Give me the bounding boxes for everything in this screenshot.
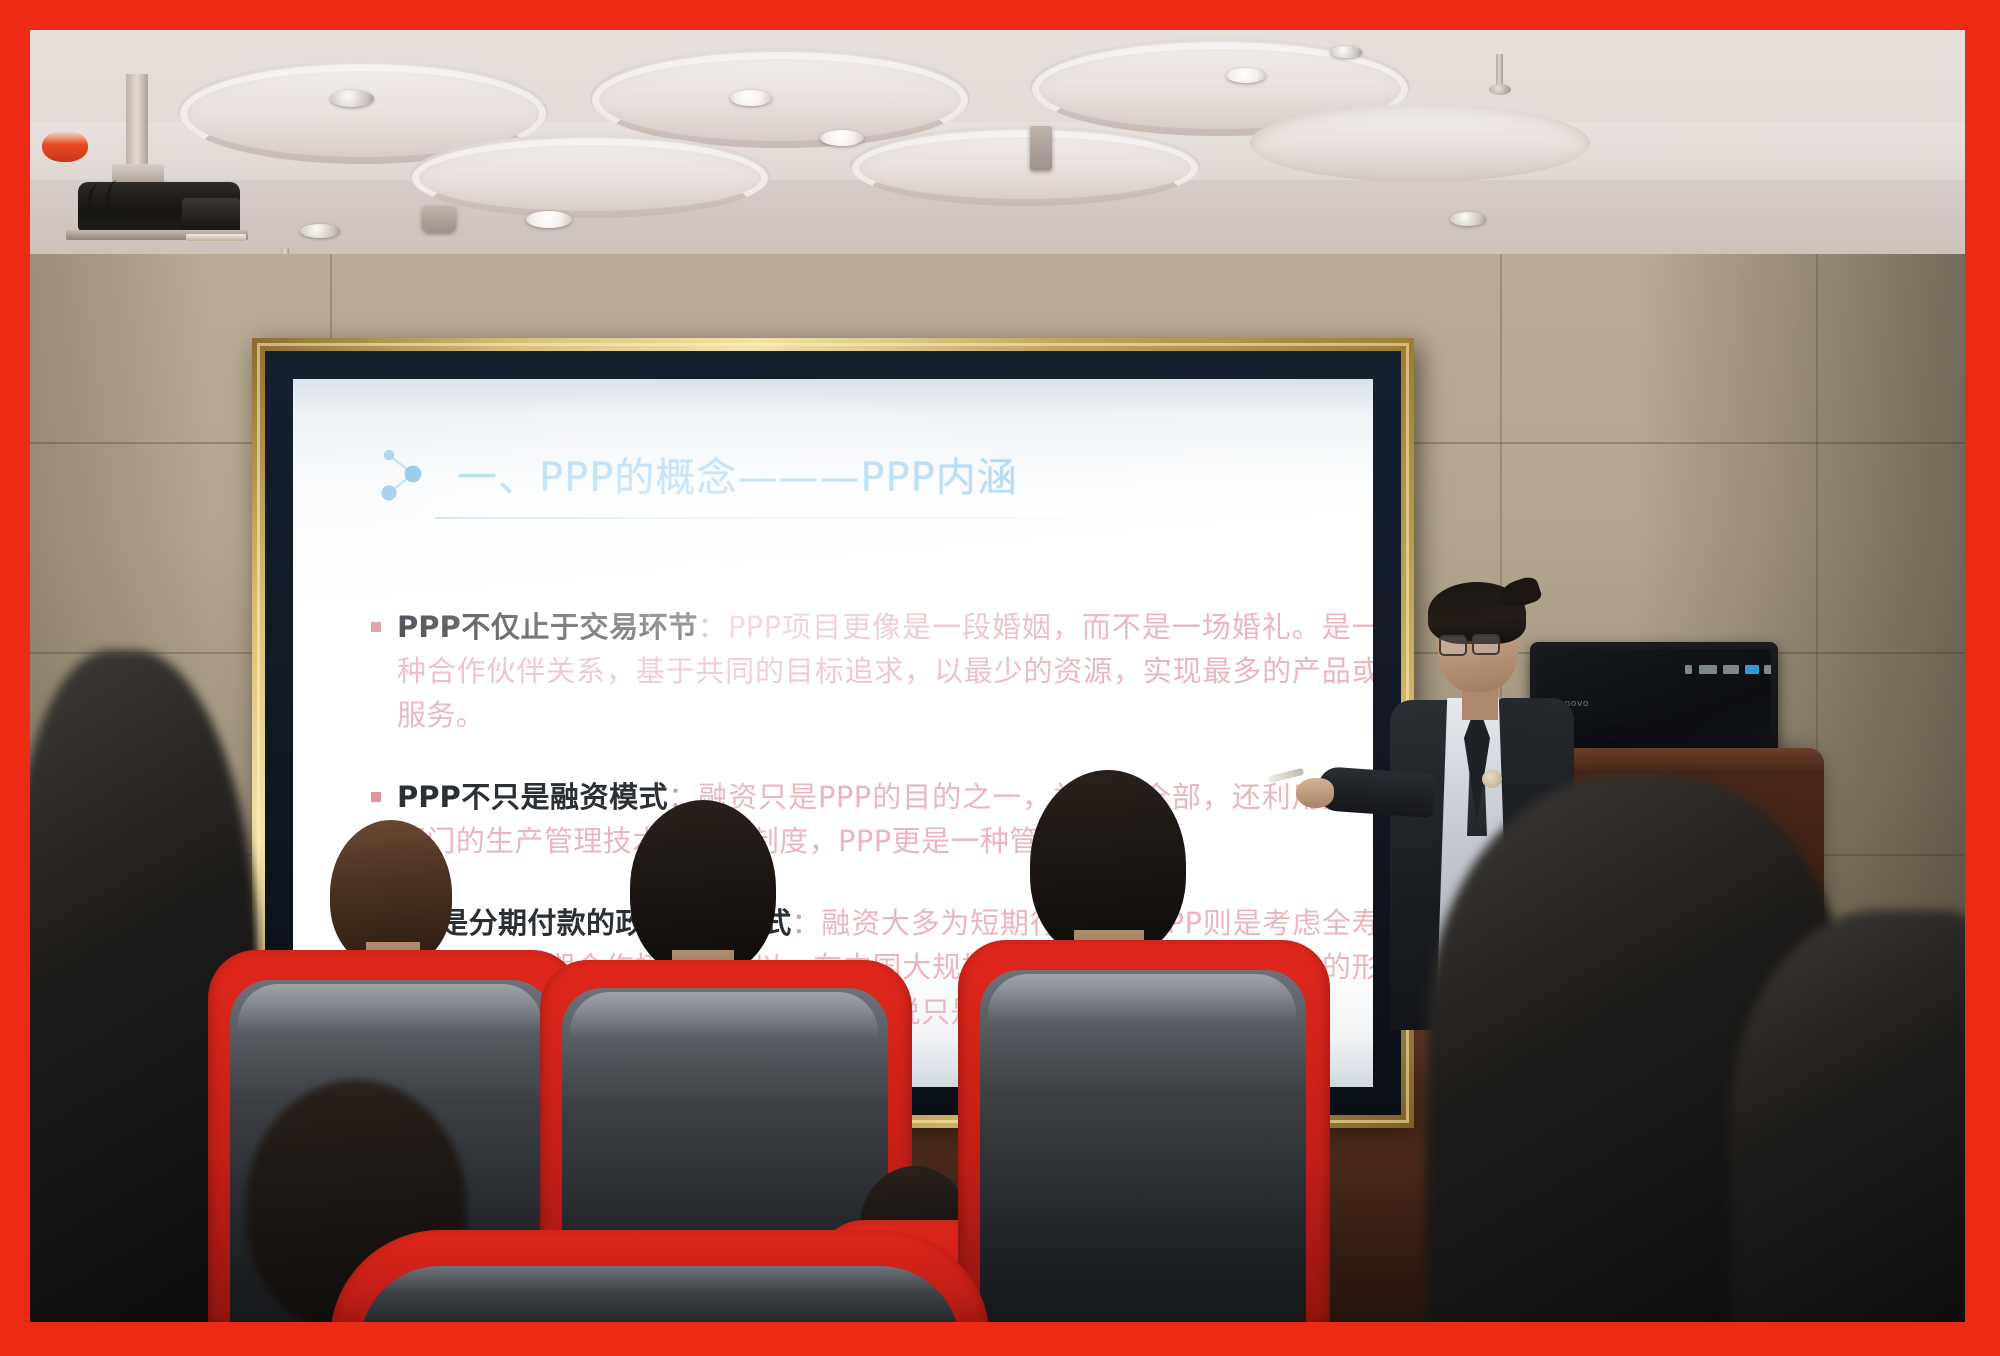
bullet-colon: ： xyxy=(792,906,822,940)
projector-base-plate xyxy=(186,234,246,241)
ceiling-downlight xyxy=(1226,68,1266,83)
bullet-marker-icon xyxy=(371,792,381,802)
photo-red-border: 一、PPP的概念———PPP内涵 PPP不仅止于交易环节：PPP项目更像是一段婚… xyxy=(0,0,2000,1356)
projector-mount-pole xyxy=(126,74,148,170)
list-item: PPP不只是融资模式：融资只是PPP的目的之一，并不是全部，还利用民营部门的生产… xyxy=(371,775,1373,863)
node-network-icon xyxy=(379,445,435,503)
ceiling-downlight xyxy=(526,211,572,228)
presenter-badge xyxy=(1482,770,1502,788)
audience-chair-highlight xyxy=(238,984,542,1032)
presenter-arm xyxy=(1317,766,1436,818)
bullet-colon: ： xyxy=(698,610,728,644)
ceiling-cove-ring xyxy=(592,52,968,148)
slide-title-row: 一、PPP的概念———PPP内涵 xyxy=(379,445,1317,503)
bullet-text: PPP不只是融资模式：融资只是PPP的目的之一，并不是全部，还利用民营部门的生产… xyxy=(397,775,1373,863)
taskbar-item xyxy=(1723,665,1739,674)
glasses-icon xyxy=(1467,641,1474,644)
ceiling-downlight xyxy=(730,90,772,106)
slide-title: 一、PPP的概念———PPP内涵 xyxy=(457,445,1018,503)
list-item: PPP不仅止于交易环节：PPP项目更像是一段婚姻，而不是一场婚礼。是一种合作伙伴… xyxy=(371,605,1373,737)
photograph: 一、PPP的概念———PPP内涵 PPP不仅止于交易环节：PPP项目更像是一段婚… xyxy=(30,30,1965,1322)
ceiling xyxy=(30,30,1965,262)
ceiling-cove-ring xyxy=(412,138,768,218)
taskbar-item-active xyxy=(1745,665,1759,674)
ceiling-cove-ring xyxy=(852,130,1198,206)
bullet-lead: PPP不只是融资模式 xyxy=(397,780,668,814)
audience-chair-highlight xyxy=(988,974,1296,1022)
slide-title-underline xyxy=(435,517,1123,519)
ceiling-downlight xyxy=(1450,212,1486,226)
ceiling-downlight xyxy=(1330,46,1362,58)
taskbar-item xyxy=(1699,665,1717,674)
bullet-marker-icon xyxy=(371,622,381,632)
sprinkler-head xyxy=(1489,84,1511,95)
audience-chair-pad xyxy=(980,970,1306,1322)
taskbar-item xyxy=(1764,665,1771,674)
ceiling-downlight xyxy=(300,224,340,238)
bullet-lead: PPP不仅止于交易环节 xyxy=(397,610,698,644)
projector-cable xyxy=(106,180,130,228)
bullet-text: PPP不仅止于交易环节：PPP项目更像是一段婚姻，而不是一场婚礼。是一种合作伙伴… xyxy=(397,605,1373,737)
audience-chair-highlight xyxy=(570,992,878,1038)
glasses-icon xyxy=(1439,635,1467,656)
ceiling-downlight xyxy=(330,90,374,107)
presenter-hand xyxy=(1296,778,1334,808)
ceiling-light-cove xyxy=(1250,104,1590,182)
ceiling-speaker xyxy=(422,206,456,232)
audience-chair-pad xyxy=(360,1266,960,1322)
fire-alarm-icon xyxy=(42,130,88,162)
glasses-icon xyxy=(1472,634,1500,655)
ceiling-speaker xyxy=(1030,126,1052,170)
taskbar-item xyxy=(1685,665,1692,674)
ceiling-downlight xyxy=(820,130,864,146)
